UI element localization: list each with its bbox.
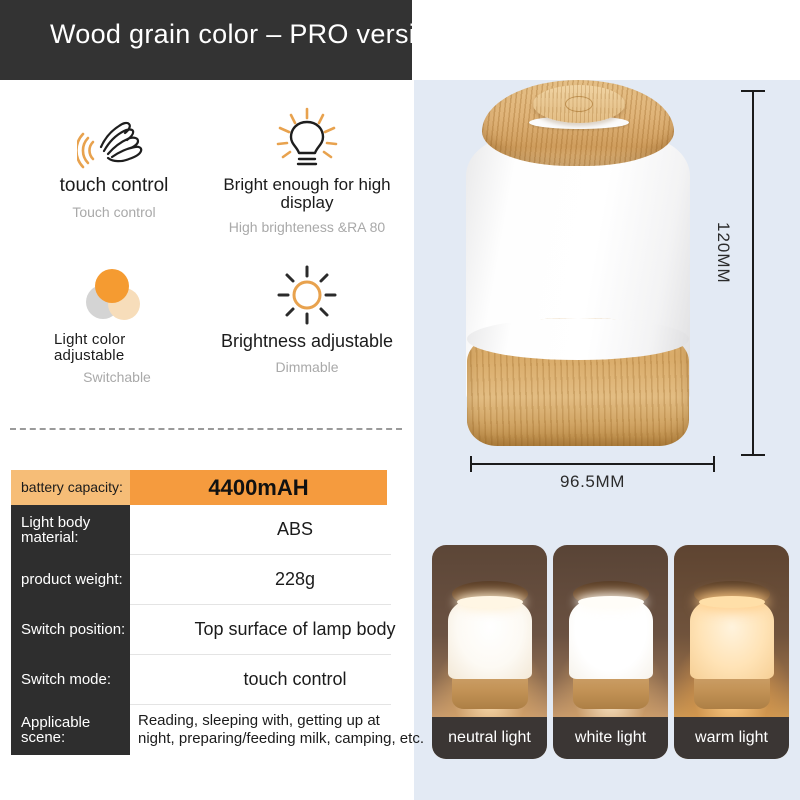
spec-value: touch control — [130, 655, 460, 705]
spec-label: Light body material: — [11, 505, 130, 555]
light-mode-label: white light — [553, 717, 668, 759]
sun-brightness-icon — [200, 258, 414, 332]
table-row: battery capacity: 4400mAH — [0, 470, 414, 505]
width-dimension-label: 96.5MM — [470, 472, 715, 492]
light-mode-gallery: neutral light white light warm light — [432, 545, 790, 759]
color-circles-icon — [14, 258, 214, 332]
feature-light-color: Light color adjustable Switchable — [14, 258, 214, 385]
height-dimension-label: 120MM — [713, 222, 733, 284]
feature-title: touch control — [14, 176, 214, 196]
feature-brightness-adjustable: Brightness adjustable Dimmable — [200, 258, 414, 375]
stage-top-white-strip — [414, 0, 800, 80]
spec-value: Top surface of lamp body — [130, 605, 460, 655]
page-title: Wood grain color – PRO version — [50, 19, 446, 50]
spec-label: Switch position: — [11, 605, 130, 655]
height-dimension-line — [752, 90, 754, 456]
hand-touch-icon — [14, 102, 214, 176]
feature-subtitle: Switchable — [14, 369, 214, 385]
table-row: Switch position: Top surface of lamp bod… — [0, 605, 414, 655]
product-image-main — [455, 80, 701, 450]
feature-title: Bright enough for high display — [200, 176, 414, 211]
feature-touch-control: touch control Touch control — [14, 102, 214, 220]
thumbnail-lamp-body — [569, 599, 653, 679]
light-mode-thumbnail-white[interactable]: white light — [553, 545, 668, 759]
table-row: Applicable scene: Reading, sleeping with… — [0, 705, 414, 755]
spec-label: Switch mode: — [11, 655, 130, 705]
thumbnail-lamp-body — [690, 599, 774, 679]
height-dimension-cap-bottom — [741, 454, 765, 456]
feature-title: Brightness adjustable — [200, 332, 414, 351]
table-row: Switch mode: touch control — [0, 655, 414, 705]
feature-grid: touch control Touch control — [0, 86, 414, 406]
thumbnail-lamp — [567, 581, 655, 709]
feature-title: Light color adjustable — [14, 332, 214, 363]
thumbnail-lamp-glow-ring — [699, 596, 765, 608]
spec-value: 228g — [130, 555, 460, 605]
feature-subtitle: Dimmable — [200, 359, 414, 375]
feature-subtitle: High brighteness &RA 80 — [200, 219, 414, 235]
section-divider — [10, 428, 402, 430]
feature-subtitle: Touch control — [14, 204, 214, 220]
feature-brightness-display: Bright enough for high display High brig… — [200, 102, 414, 235]
spec-value: 4400mAH — [130, 470, 387, 505]
thumbnail-lamp-glow-ring — [578, 596, 644, 608]
spec-value: ABS — [130, 505, 460, 555]
width-dimension-cap-left — [470, 456, 472, 472]
sun-engraving-icon — [565, 96, 593, 112]
spec-label: product weight: — [11, 555, 130, 605]
light-mode-label: warm light — [674, 717, 789, 759]
width-dimension-cap-right — [713, 456, 715, 472]
lamp-base-highlight — [467, 318, 689, 360]
thumbnail-lamp-glow-ring — [457, 596, 523, 608]
spec-label: Applicable scene: — [11, 705, 130, 755]
spec-label: battery capacity: — [11, 470, 130, 505]
width-dimension-line — [470, 463, 715, 465]
thumbnail-lamp — [688, 581, 776, 709]
thumbnail-lamp-body — [448, 599, 532, 679]
light-mode-thumbnail-warm[interactable]: warm light — [674, 545, 789, 759]
lamp-touch-button[interactable] — [533, 85, 625, 123]
specifications-table: battery capacity: 4400mAH Light body mat… — [0, 470, 414, 755]
spec-value: Reading, sleeping with, getting up at ni… — [130, 705, 468, 755]
table-row: Light body material: ABS — [0, 505, 414, 555]
table-row: product weight: 228g — [0, 555, 414, 605]
height-dimension-cap-top — [741, 90, 765, 92]
light-bulb-icon — [200, 102, 414, 176]
product-infographic: Wood grain color – PRO version Wood grai… — [0, 0, 800, 800]
